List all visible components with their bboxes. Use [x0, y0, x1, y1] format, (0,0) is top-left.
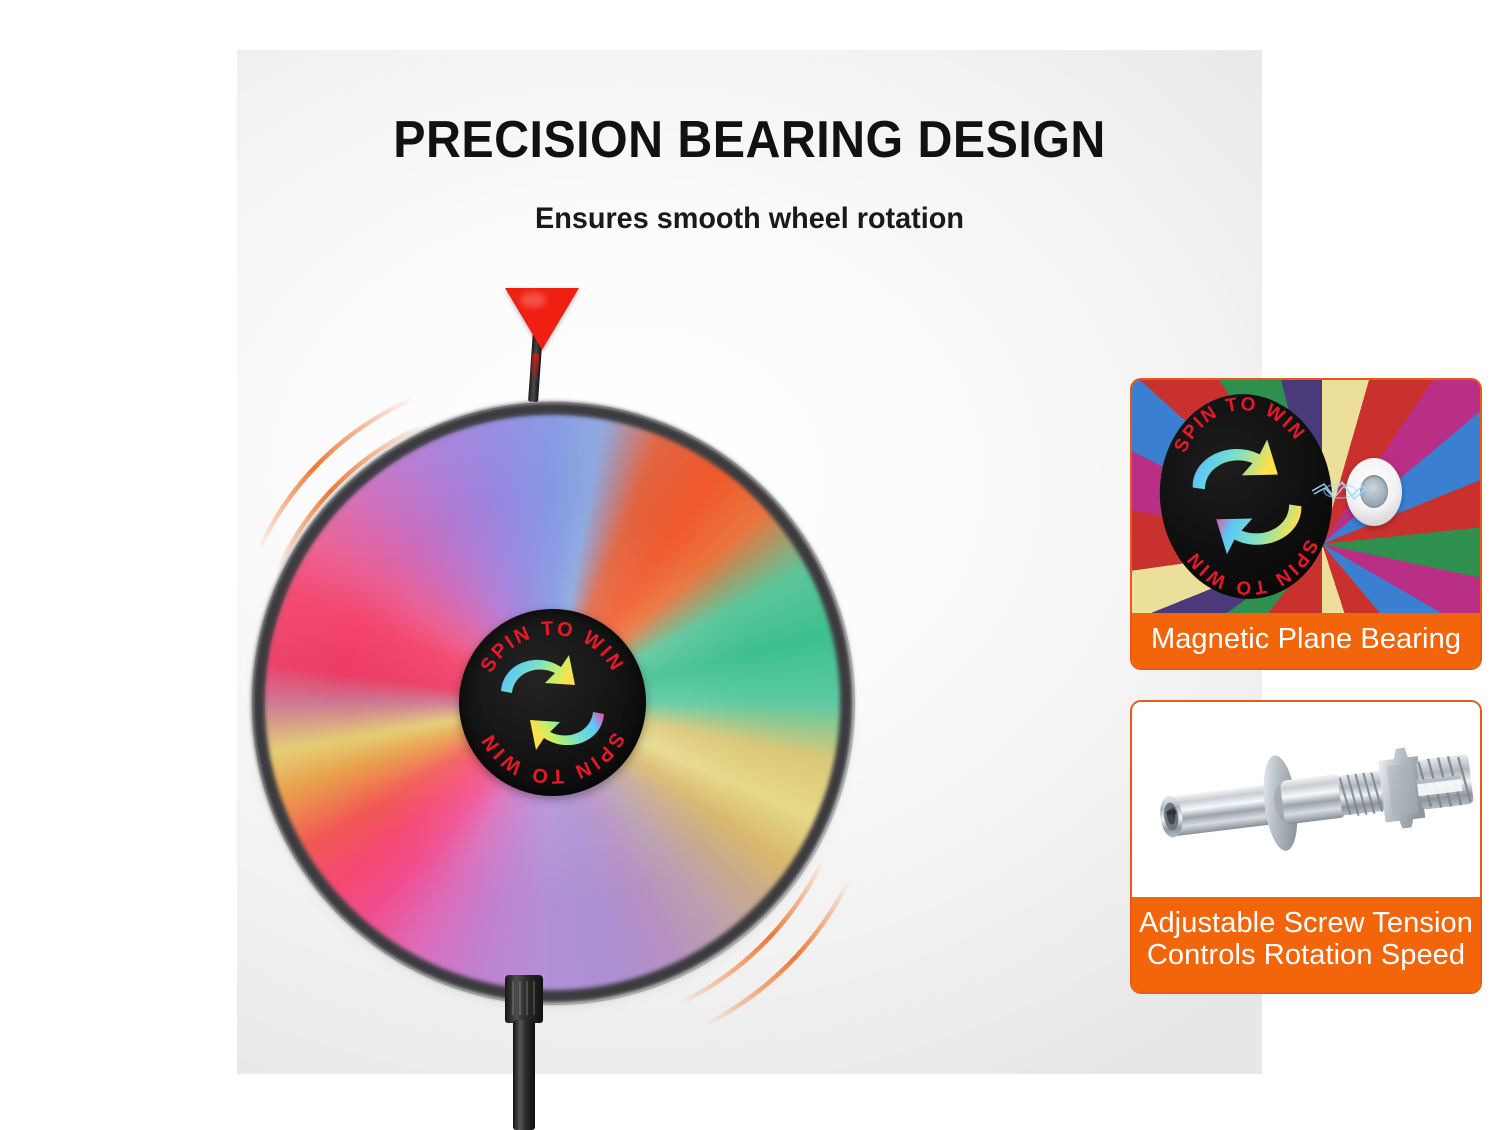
- wheel-stand-pole: [513, 1020, 535, 1130]
- callout-magnetic-plane-bearing: SPIN TO WIN SPIN TO WIN: [1130, 378, 1482, 670]
- callout-a-caption: Magnetic Plane Bearing: [1132, 613, 1480, 668]
- chrome-screw-image: [1132, 702, 1480, 895]
- page-title: PRECISION BEARING DESIGN: [273, 110, 1226, 170]
- image-canvas: PRECISION BEARING DESIGN Ensures smooth …: [0, 0, 1500, 1125]
- wheel-stand-collar: [505, 975, 543, 1023]
- callout-b-photo: [1132, 702, 1480, 895]
- callout-b-caption-line2: Controls Rotation Speed: [1132, 939, 1480, 971]
- magnetic-spark-icon: [1310, 472, 1370, 510]
- wheel-center-hub: SPIN TO WIN SPIN TO WIN: [459, 609, 646, 796]
- content-plate: PRECISION BEARING DESIGN Ensures smooth …: [237, 50, 1262, 1074]
- callout-a-photo: SPIN TO WIN SPIN TO WIN: [1132, 380, 1480, 613]
- callout-adjustable-screw-tension: Adjustable Screw Tension Controls Rotati…: [1130, 700, 1482, 994]
- refresh-arrows-icon: [483, 633, 622, 772]
- pointer-triangle-icon: [505, 288, 579, 350]
- callout-b-caption: Adjustable Screw Tension Controls Rotati…: [1132, 897, 1480, 992]
- callout-b-caption-line1: Adjustable Screw Tension: [1132, 907, 1480, 939]
- prize-wheel-illustration: SPIN TO WIN SPIN TO WIN: [237, 220, 857, 1080]
- wheel-pointer: [505, 280, 575, 400]
